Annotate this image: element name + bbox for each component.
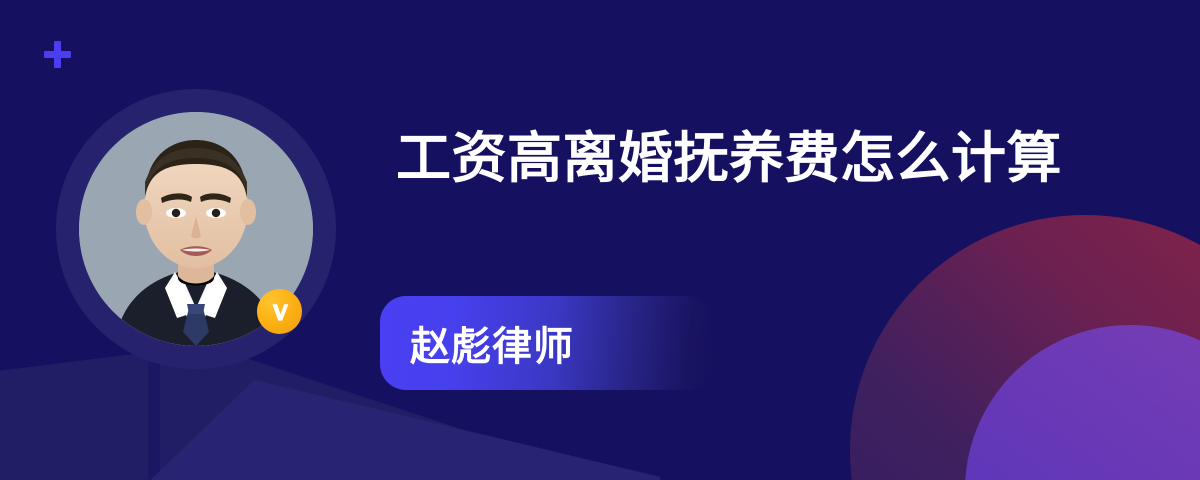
- avatar: [56, 89, 336, 369]
- plus-icon: [44, 41, 71, 68]
- verified-badge-icon: [257, 289, 302, 334]
- decorative-circle-outer: [850, 215, 1200, 480]
- decorative-polygon-bottom: [140, 380, 660, 480]
- decorative-circle-inner: [965, 325, 1200, 480]
- lawyer-promo-banner: 工资高离婚抚养费怎么计算 赵彪律师: [0, 0, 1200, 480]
- lawyer-name-button[interactable]: 赵彪律师: [380, 296, 712, 390]
- content-block: 工资高离婚抚养费怎么计算: [396, 122, 1086, 195]
- page-title: 工资高离婚抚养费怎么计算: [396, 122, 1086, 195]
